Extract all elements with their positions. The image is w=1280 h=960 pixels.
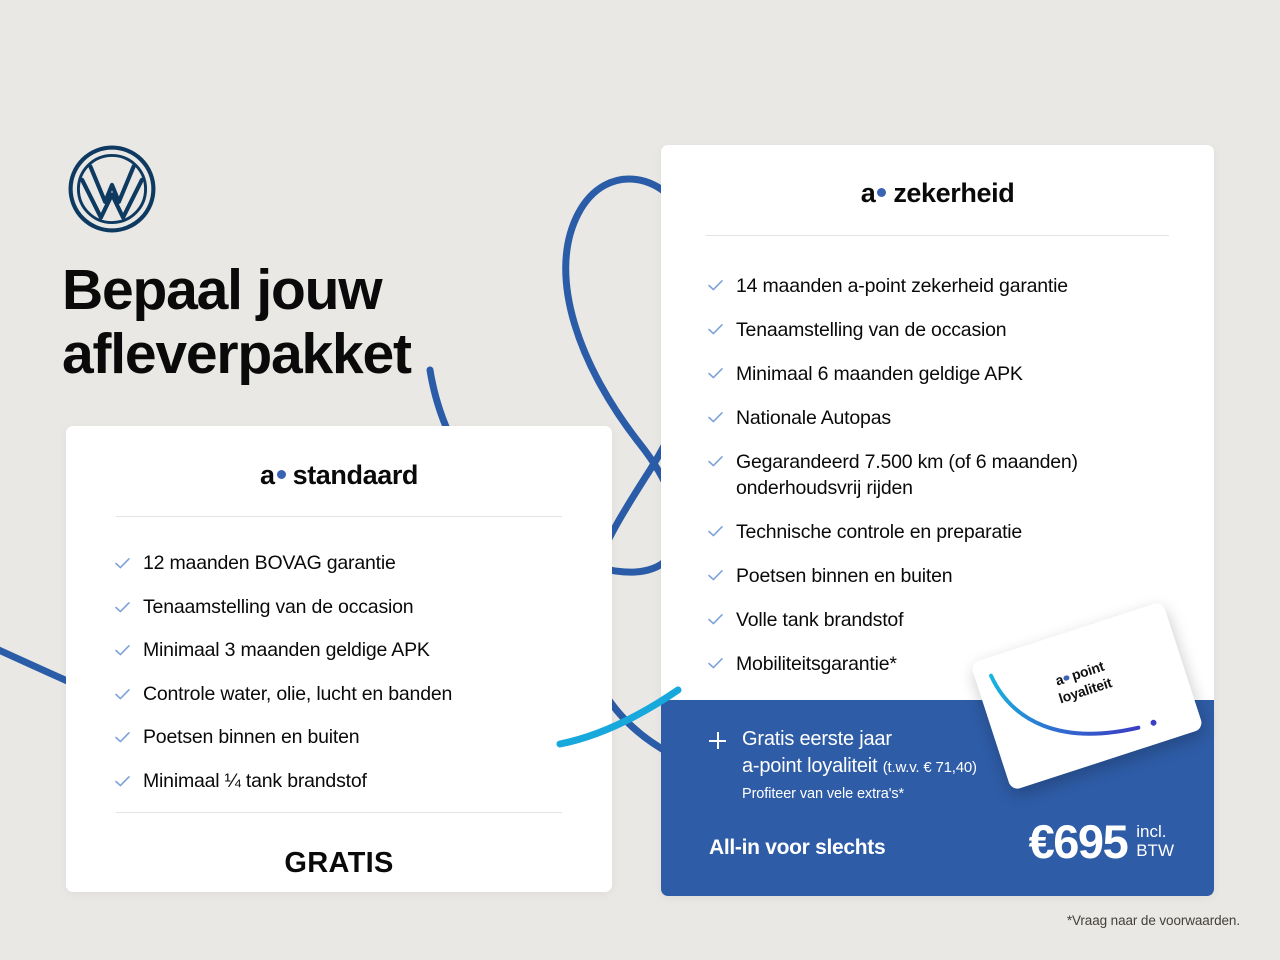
list-item: Minimaal 3 maanden geldige APK	[114, 638, 612, 663]
list-item: Minimaal 6 maanden geldige APK	[707, 361, 1214, 387]
card-divider-bottom	[116, 812, 562, 813]
footnote: *Vraag naar de voorwaarden.	[1067, 913, 1240, 928]
package-card-standaard[interactable]: astandaard 12 maanden BOVAG garantie Ten…	[66, 426, 612, 892]
allin-label: All-in voor slechts	[709, 836, 885, 866]
price-amount: €695	[1029, 818, 1128, 866]
bonus-line-1: Gratis eerste jaar	[742, 726, 977, 753]
list-item: Tenaamstelling van de occasion	[114, 595, 612, 620]
card-title-text: zekerheid	[893, 178, 1014, 208]
list-item: Poetsen binnen en buiten	[707, 563, 1214, 589]
feature-text: Poetsen binnen en buiten	[143, 725, 359, 750]
check-icon	[707, 409, 724, 426]
feature-text: Tenaamstelling van de occasion	[143, 595, 413, 620]
check-icon	[114, 642, 131, 659]
check-icon	[114, 729, 131, 746]
headline-line-1: Bepaal jouw	[62, 258, 411, 322]
price-block: €695 incl. BTW	[1029, 818, 1174, 866]
check-icon	[707, 611, 724, 628]
a-point-dot-icon	[1063, 674, 1070, 681]
price-suffix-line-2: BTW	[1136, 841, 1174, 860]
bonus-line-2: a-point loyaliteit	[742, 755, 877, 777]
bonus-offer: Gratis eerste jaar a-point loyaliteit (t…	[709, 726, 977, 805]
feature-text: 14 maanden a-point zekerheid garantie	[736, 273, 1068, 299]
list-item: Gegarandeerd 7.500 km (of 6 maanden) ond…	[707, 449, 1137, 501]
feature-text: Minimaal 3 maanden geldige APK	[143, 638, 430, 663]
feature-text: Controle water, olie, lucht en banden	[143, 682, 452, 707]
check-icon	[114, 555, 131, 572]
check-icon	[707, 321, 724, 338]
list-item: 14 maanden a-point zekerheid garantie	[707, 273, 1214, 299]
feature-text: 12 maanden BOVAG garantie	[143, 551, 396, 576]
card-divider-top	[116, 516, 562, 517]
a-point-mark: a	[861, 178, 876, 208]
feature-text: Poetsen binnen en buiten	[736, 563, 952, 589]
headline-line-2: afleverpakket	[62, 322, 411, 386]
volkswagen-logo	[66, 143, 158, 235]
card-title-standaard: astandaard	[66, 460, 612, 491]
a-point-mark: a	[260, 460, 275, 490]
feature-text: Gegarandeerd 7.500 km (of 6 maanden) ond…	[736, 449, 1137, 501]
list-item: Minimaal ¼ tank brandstof	[114, 769, 612, 794]
price-row: All-in voor slechts €695 incl. BTW	[709, 818, 1174, 866]
feature-text: Technische controle en preparatie	[736, 519, 1022, 545]
list-item: Technische controle en preparatie	[707, 519, 1214, 545]
feature-text: Tenaamstelling van de occasion	[736, 317, 1006, 343]
page-headline: Bepaal jouw afleverpakket	[62, 258, 411, 386]
list-item: Controle water, olie, lucht en banden	[114, 682, 612, 707]
list-item: Nationale Autopas	[707, 405, 1214, 431]
poster-stage: Bepaal jouw afleverpakket astandaard 12 …	[0, 0, 1280, 960]
package-card-zekerheid[interactable]: azekerheid 14 maanden a-point zekerheid …	[661, 145, 1214, 896]
feature-text: Minimaal ¼ tank brandstof	[143, 769, 367, 794]
plus-icon	[709, 732, 726, 749]
feature-text: Minimaal 6 maanden geldige APK	[736, 361, 1023, 387]
price-suffix: incl. BTW	[1136, 822, 1174, 862]
a-point-dot-icon	[877, 188, 886, 197]
price-suffix-line-1: incl.	[1136, 822, 1174, 841]
card-title-zekerheid: azekerheid	[661, 178, 1214, 209]
list-item: Tenaamstelling van de occasion	[707, 317, 1214, 343]
feature-text: Mobiliteitsgarantie*	[736, 651, 897, 677]
check-icon	[114, 686, 131, 703]
check-icon	[114, 773, 131, 790]
check-icon	[707, 523, 724, 540]
card-title-text: standaard	[293, 460, 418, 490]
feature-text: Nationale Autopas	[736, 405, 891, 431]
check-icon	[707, 655, 724, 672]
bonus-value: (t.w.v. € 71,40)	[883, 759, 977, 776]
feature-list-standaard: 12 maanden BOVAG garantie Tenaamstelling…	[114, 551, 612, 794]
check-icon	[707, 277, 724, 294]
a-point-dot-icon	[277, 470, 286, 479]
check-icon	[707, 567, 724, 584]
price-label-standaard: GRATIS	[66, 847, 612, 880]
card-divider-top	[706, 235, 1169, 236]
bonus-note: Profiteer van vele extra's*	[742, 783, 977, 805]
check-icon	[707, 365, 724, 382]
check-icon	[114, 599, 131, 616]
list-item: Poetsen binnen en buiten	[114, 725, 612, 750]
list-item: 12 maanden BOVAG garantie	[114, 551, 612, 576]
feature-text: Volle tank brandstof	[736, 607, 903, 633]
check-icon	[707, 453, 724, 470]
